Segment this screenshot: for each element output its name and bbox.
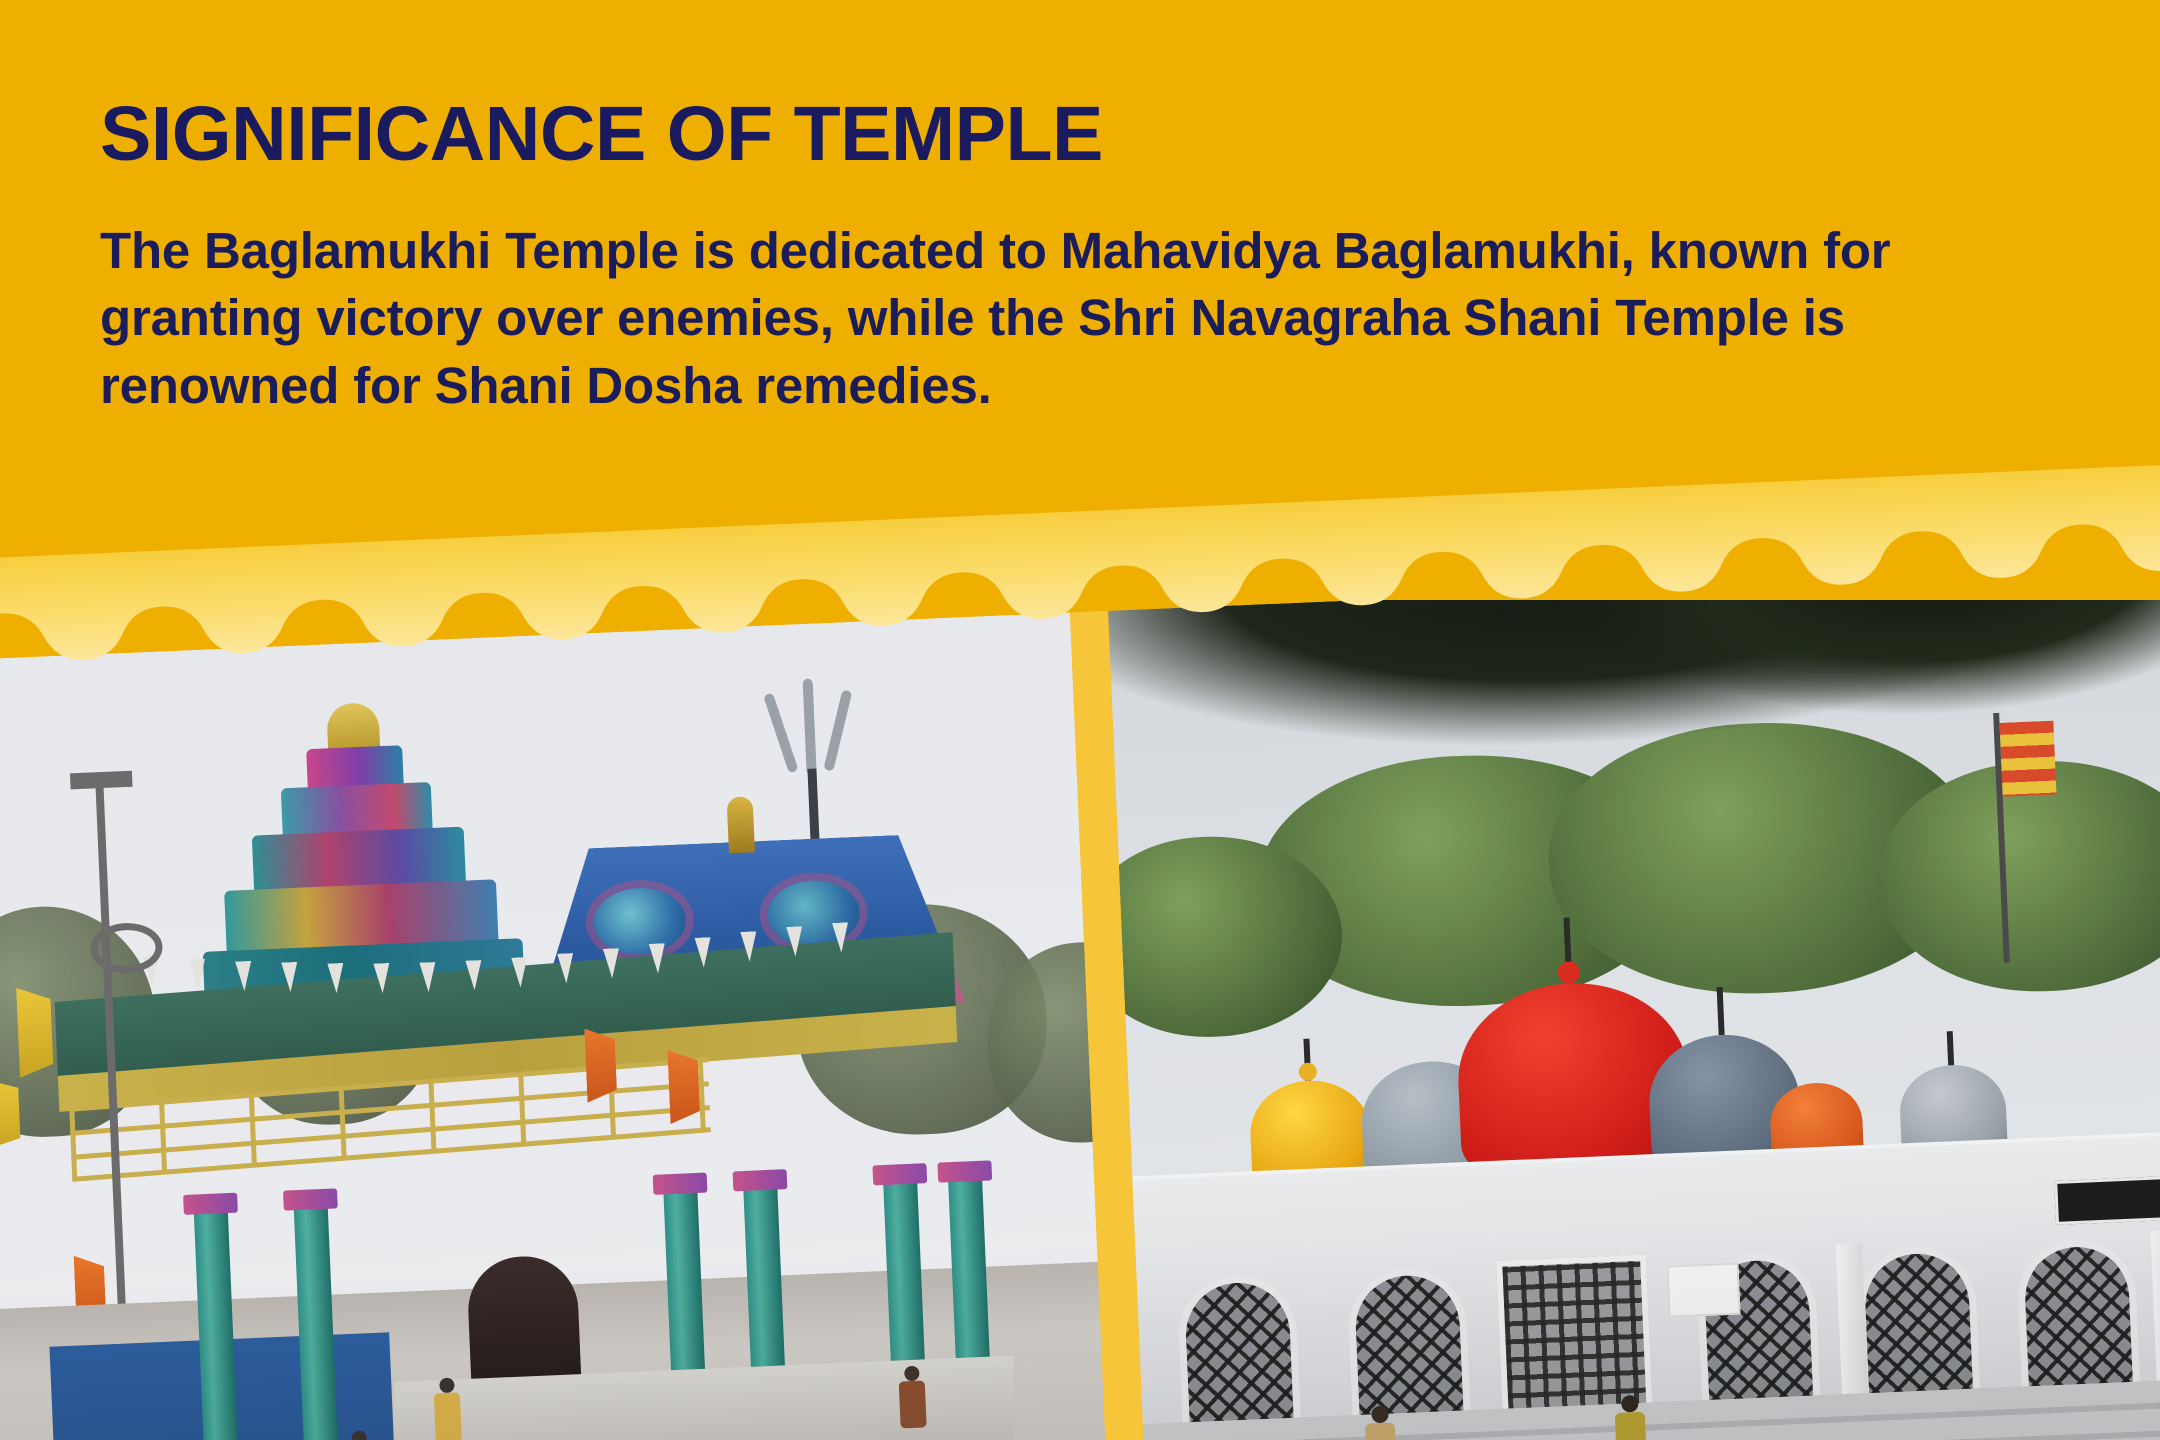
finial (727, 796, 755, 853)
arched-grille (1176, 1274, 1302, 1440)
image-gallery (0, 600, 2160, 1440)
visitor (343, 1430, 376, 1440)
orange-flag (667, 1049, 700, 1124)
visitor (896, 1365, 929, 1428)
wall-plaque (1666, 1263, 1740, 1318)
temple-image-shani (1108, 600, 2160, 1440)
signboard-text (2057, 1177, 2160, 1222)
visitor (1612, 1395, 1650, 1440)
visitor (1362, 1405, 1400, 1440)
temple-flag (1999, 721, 2056, 797)
page-title: SIGNIFICANCE OF TEMPLE (100, 96, 2090, 173)
header-block: SIGNIFICANCE OF TEMPLE The Baglamukhi Te… (100, 96, 2090, 419)
yellow-flag (0, 1078, 21, 1149)
yellow-flag (16, 986, 54, 1077)
poster-canvas: SIGNIFICANCE OF TEMPLE The Baglamukhi Te… (0, 0, 2160, 1440)
temple-image-baglamukhi (0, 613, 1108, 1440)
light-fixture (70, 771, 133, 790)
tree-canopy (1487, 600, 2160, 774)
visitor (431, 1377, 464, 1440)
body-paragraph: The Baglamukhi Temple is dedicated to Ma… (100, 217, 2040, 419)
orange-flag (584, 1027, 617, 1102)
image-slab (0, 600, 2160, 1440)
temple-signboard (2054, 1174, 2160, 1225)
